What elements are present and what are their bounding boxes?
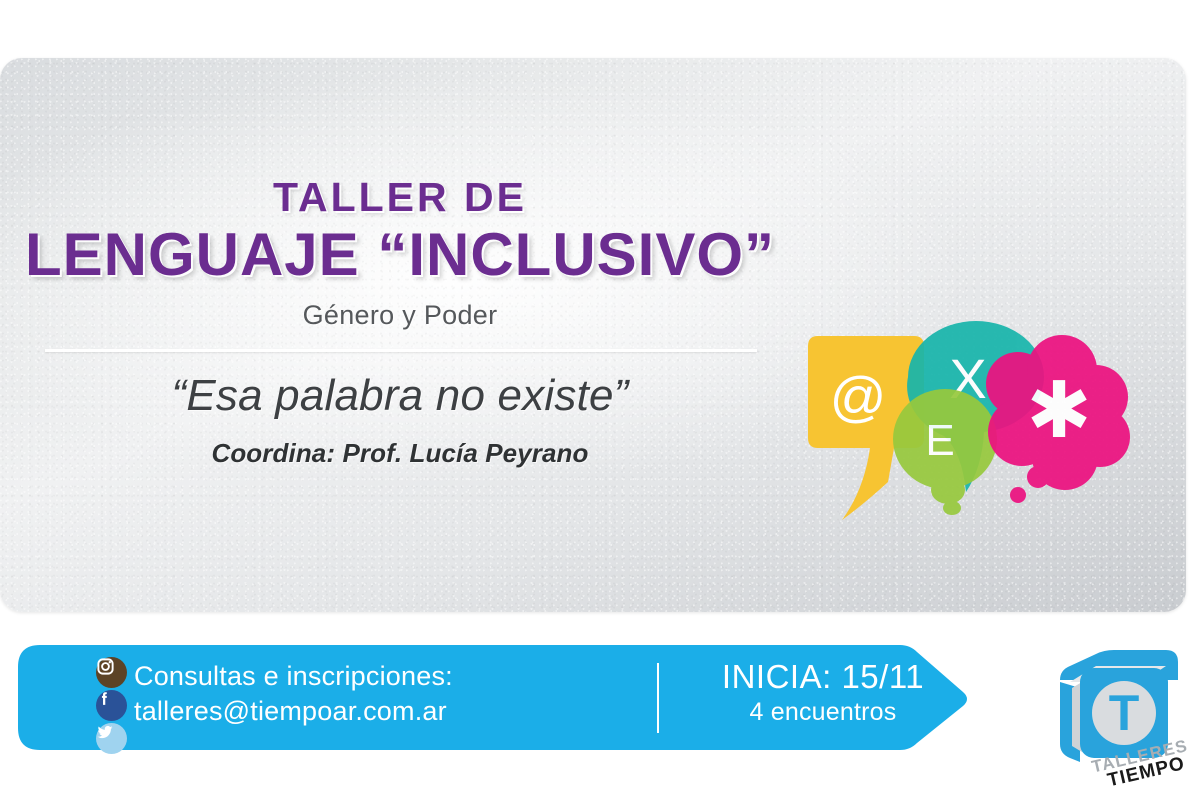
- svg-text:E: E: [925, 416, 954, 465]
- speech-bubbles-illustration: @ X E: [800, 292, 1130, 532]
- divider-rule: [45, 349, 757, 352]
- talleres-tiempo-logo[interactable]: T TALLERES TIEMPO: [1042, 638, 1192, 788]
- discount-ribbon: ¡Descuentos especiales para socixs!: [826, 58, 1186, 75]
- twitter-icon[interactable]: [96, 723, 127, 754]
- start-date: INICIA: 15/11: [678, 657, 968, 697]
- footer-bar: Consultas e inscripciones: talleres@tiem…: [18, 645, 973, 750]
- bubble-asterisk-icon: ✱: [986, 335, 1130, 503]
- pretitle: TALLER DE: [0, 176, 800, 219]
- quote-text: “Esa palabra no existe”: [0, 371, 800, 421]
- subtitle: Género y Poder: [0, 300, 800, 331]
- main-card: ¡Descuentos especiales para socixs! TALL…: [0, 58, 1186, 612]
- svg-text:✱: ✱: [1026, 366, 1091, 454]
- social-icons: [96, 657, 136, 756]
- contact-block: Consultas e inscripciones: talleres@tiem…: [134, 659, 453, 729]
- footer-divider: [657, 663, 659, 733]
- contact-email[interactable]: talleres@tiempoar.com.ar: [134, 694, 453, 729]
- facebook-icon[interactable]: [96, 690, 127, 721]
- logo-letter: T: [1109, 685, 1140, 741]
- flyer-canvas: ¡Descuentos especiales para socixs! TALL…: [0, 0, 1200, 800]
- svg-text:@: @: [830, 365, 887, 428]
- page-title: LENGUAJE “INCLUSIVO”: [0, 223, 800, 286]
- instagram-icon[interactable]: [96, 657, 127, 688]
- sessions-count: 4 encuentros: [678, 697, 968, 728]
- start-info-block: INICIA: 15/11 4 encuentros: [678, 657, 968, 728]
- contact-label: Consultas e inscripciones:: [134, 659, 453, 694]
- bubble-e-icon: E: [893, 389, 997, 515]
- title-block: TALLER DE LENGUAJE “INCLUSIVO” Género y …: [0, 176, 800, 331]
- coordinator-text: Coordina: Prof. Lucía Peyrano: [0, 438, 800, 469]
